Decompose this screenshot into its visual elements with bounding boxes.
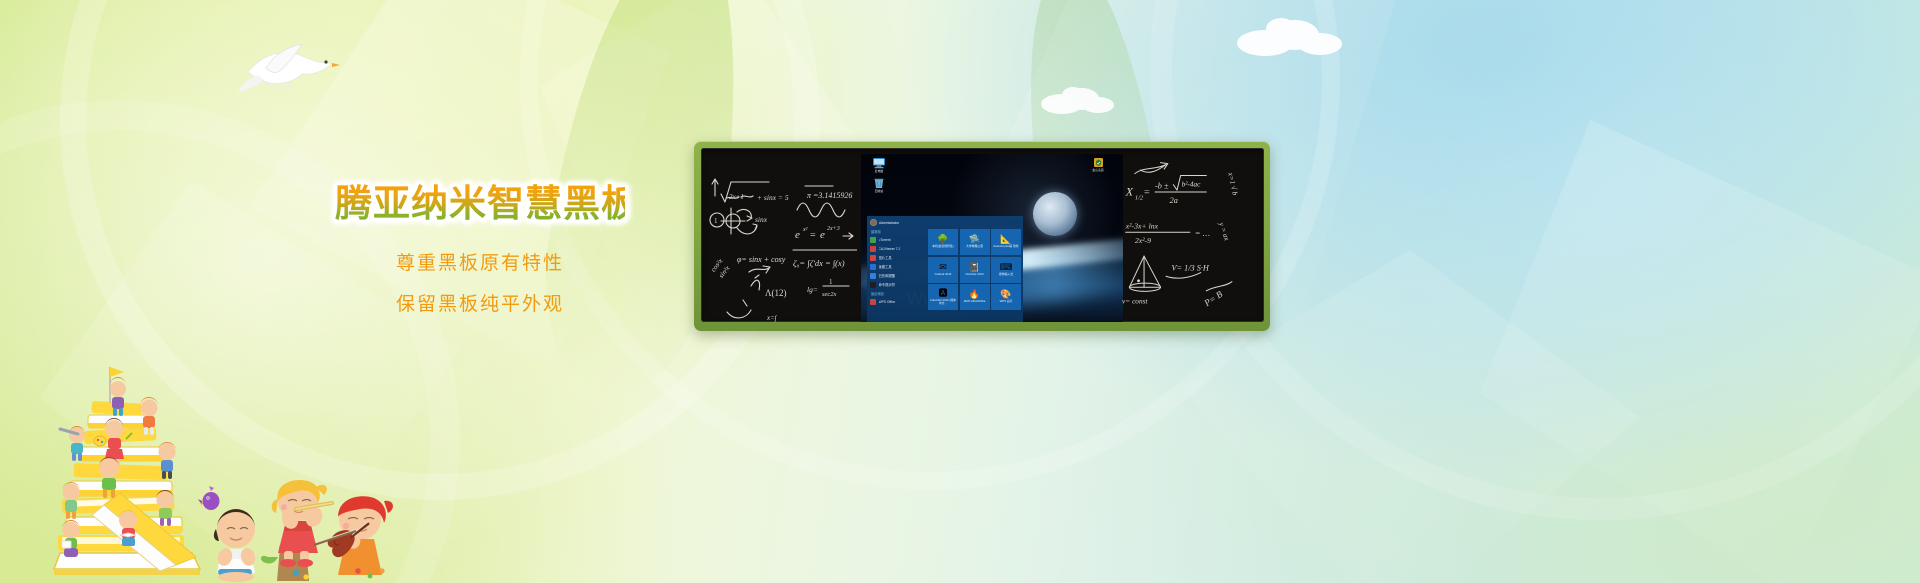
tile-icon: 🛸 bbox=[969, 235, 980, 244]
decor-ball bbox=[303, 574, 308, 579]
dove-bird-icon bbox=[236, 32, 346, 102]
tile-label: Autocad plus版 软件 bbox=[992, 245, 1019, 248]
start-menu-user[interactable]: Administrator bbox=[870, 219, 925, 226]
svg-text:2x+3: 2x+3 bbox=[827, 226, 840, 232]
start-menu-tiles[interactable]: 🌳 本机(最智能特性) 🛸 大学物理公课 📐 Autocad plus版 软件 bbox=[927, 216, 1023, 322]
app-icon bbox=[870, 273, 876, 279]
avatar bbox=[870, 219, 877, 226]
svg-text:Λ(12): Λ(12) bbox=[765, 288, 787, 298]
app-label: CAJViewer 7.2 bbox=[879, 247, 901, 251]
svg-text:2x²-9: 2x²-9 bbox=[1135, 236, 1151, 245]
promo-banner: 腾亚纳米智慧黑板 尊重黑板原有特性 保留黑板纯平外观 2x+1 + sinx =… bbox=[0, 0, 1920, 583]
start-menu-item[interactable]: 日历和提醒 bbox=[870, 271, 925, 280]
app-label: 画图工具 bbox=[879, 264, 892, 269]
smart-blackboard-device: 2x+1 + sinx = 5 π =3.1415926 1 sinx e x² bbox=[694, 141, 1270, 331]
svg-text:v= const: v= const bbox=[1122, 297, 1148, 306]
app-label: 日历和提醒 bbox=[879, 273, 895, 278]
svg-text:π =3.1415926: π =3.1415926 bbox=[807, 191, 852, 200]
decor-ball bbox=[293, 570, 299, 576]
start-menu-item[interactable]: 画图工具 bbox=[870, 262, 925, 271]
tile-label: 大学物理公课 bbox=[965, 245, 984, 248]
antivirus-icon bbox=[1093, 157, 1104, 168]
tile-icon: 🔥 bbox=[969, 290, 980, 299]
start-tile[interactable]: 📐 Autocad plus版 软件 bbox=[991, 229, 1021, 255]
page-title: 腾亚纳米智慧黑板 bbox=[335, 182, 625, 226]
tile-label: AutoCAD 2016 (简体中文… bbox=[928, 299, 958, 305]
svg-text:x²: x² bbox=[802, 227, 808, 233]
svg-text:=: = bbox=[1144, 188, 1150, 199]
start-menu-item[interactable]: WPS Office bbox=[870, 297, 925, 306]
start-menu-app-list[interactable]: Administrator 最常用 uTorrent CAJViewer 7.2 bbox=[867, 216, 927, 322]
app-icon bbox=[870, 282, 876, 288]
svg-text:e: e bbox=[795, 229, 800, 241]
svg-text:2x+1: 2x+1 bbox=[729, 193, 744, 201]
boy-violin-player bbox=[314, 496, 393, 575]
tile-icon: ✉ bbox=[939, 263, 947, 272]
recycle-bin-icon bbox=[873, 177, 885, 189]
svg-text:b²-4ac: b²-4ac bbox=[1182, 179, 1202, 188]
decor-ball bbox=[368, 574, 373, 579]
kids-musicians-illustration bbox=[180, 463, 410, 583]
purple-bird-icon bbox=[198, 486, 220, 510]
app-label: WPS Office bbox=[879, 300, 896, 304]
app-label: 图片工具 bbox=[879, 255, 892, 260]
desktop-icon-label: 此电脑 bbox=[866, 170, 893, 173]
desktop-icon-computer[interactable]: 此电脑 bbox=[864, 157, 894, 174]
svg-text:-b ±: -b ± bbox=[1155, 181, 1169, 190]
boy-sitting bbox=[214, 509, 258, 582]
section-label-recently-added: 最近添加 bbox=[871, 291, 925, 296]
start-menu-item[interactable]: CAJViewer 7.2 bbox=[870, 244, 925, 253]
svg-text:P= B: P= B bbox=[1202, 289, 1225, 309]
cloud-small-icon bbox=[1040, 82, 1116, 116]
subtitle-line-2: 保留黑板纯平外观 bbox=[335, 295, 625, 314]
svg-text:x²-3x+ lnx: x²-3x+ lnx bbox=[1125, 222, 1159, 231]
chalk-formulas-right: X 1/2 = -b ± b²-4ac 2a x=1 √ b x²-3x+ ln… bbox=[1112, 148, 1264, 322]
svg-text:sec2x: sec2x bbox=[822, 291, 837, 298]
tile-label: MATLAB R2016a bbox=[963, 300, 987, 303]
svg-text:2a: 2a bbox=[1170, 196, 1178, 205]
desktop-icon-antivirus[interactable]: 金山毒霸 bbox=[1083, 157, 1113, 173]
start-tile[interactable]: ⌨ 搜狗输入法 bbox=[991, 257, 1021, 283]
start-tile[interactable]: 🅰 AutoCAD 2016 (简体中文… bbox=[928, 284, 958, 310]
svg-text:y = ax: y = ax bbox=[1217, 220, 1232, 242]
computer-icon bbox=[872, 157, 886, 169]
app-label: uTorrent bbox=[879, 238, 891, 242]
tile-icon: ⌨ bbox=[1000, 263, 1013, 272]
start-tile[interactable]: 🔥 MATLAB R2016a bbox=[960, 284, 990, 310]
svg-text:x=1 √ b: x=1 √ b bbox=[1226, 171, 1240, 197]
svg-text:φ= sinx + cosy: φ= sinx + cosy bbox=[737, 255, 786, 264]
tile-icon: 📐 bbox=[1000, 235, 1011, 244]
cloud-large-icon bbox=[1235, 12, 1345, 58]
tile-label: 搜狗输入法 bbox=[998, 273, 1014, 276]
start-tile[interactable]: ✉ Outlook 2013 bbox=[928, 257, 958, 283]
app-label: 命令提示符 bbox=[879, 282, 895, 287]
svg-text:ζ₀= ∫ζ'dx = ∫(x): ζ₀= ∫ζ'dx = ∫(x) bbox=[793, 258, 845, 269]
moon-graphic bbox=[1033, 192, 1077, 236]
tile-icon: 📓 bbox=[969, 263, 980, 272]
desktop-icon-label: 金山毒霸 bbox=[1085, 169, 1112, 172]
subtitle-line-1: 尊重黑板原有特性 bbox=[335, 254, 625, 273]
tile-label: 本机(最智能特性) bbox=[931, 245, 954, 248]
svg-text:= …: = … bbox=[1195, 229, 1210, 238]
svg-text:=: = bbox=[810, 230, 816, 241]
tile-icon: 🌳 bbox=[937, 235, 948, 244]
svg-text:e: e bbox=[820, 229, 825, 241]
tile-icon: 🎨 bbox=[1000, 290, 1011, 299]
app-icon bbox=[870, 299, 876, 305]
start-menu-item[interactable]: uTorrent bbox=[870, 235, 925, 244]
desktop-icon-label: 回收站 bbox=[866, 190, 893, 193]
user-name: Administrator bbox=[879, 221, 899, 225]
start-menu-item[interactable]: 命令提示符 bbox=[870, 280, 925, 289]
tile-icon: 🅰 bbox=[938, 289, 947, 298]
start-menu[interactable]: Administrator 最常用 uTorrent CAJViewer 7.2 bbox=[867, 216, 1023, 322]
banner-text-block: 腾亚纳米智慧黑板 尊重黑板原有特性 保留黑板纯平外观 bbox=[335, 182, 625, 314]
start-tile[interactable]: 📓 OneNote 2013 bbox=[960, 257, 990, 283]
svg-text:sinx: sinx bbox=[755, 215, 768, 224]
tile-label: OneNote 2013 bbox=[964, 273, 984, 276]
desktop-icon-recycle-bin[interactable]: 回收站 bbox=[864, 177, 894, 194]
chalk-formulas-left: 2x+1 + sinx = 5 π =3.1415926 1 sinx e x² bbox=[707, 172, 857, 322]
app-icon bbox=[870, 246, 876, 252]
tile-label: WPS 演示 bbox=[999, 300, 1014, 303]
decor-ball bbox=[355, 568, 361, 574]
svg-text:+ sinx = 5: + sinx = 5 bbox=[757, 193, 789, 202]
svg-text:lg=: lg= bbox=[807, 285, 818, 294]
windows-desktop-screen[interactable]: Windows 10 此电脑 bbox=[861, 154, 1123, 322]
blackboard-surface: 2x+1 + sinx = 5 π =3.1415926 1 sinx e x² bbox=[701, 148, 1264, 322]
svg-text:1/2: 1/2 bbox=[1135, 194, 1144, 201]
svg-text:1: 1 bbox=[714, 217, 718, 225]
svg-text:X: X bbox=[1125, 185, 1134, 199]
start-tile[interactable]: 🌳 本机(最智能特性) bbox=[928, 229, 958, 255]
svg-text:1: 1 bbox=[829, 278, 833, 286]
tile-label: Outlook 2013 bbox=[934, 273, 953, 276]
app-icon bbox=[870, 237, 876, 243]
start-tile[interactable]: 🎨 WPS 演示 bbox=[991, 284, 1021, 310]
start-tile[interactable]: 🛸 大学物理公课 bbox=[960, 229, 990, 255]
svg-text:x=∫: x=∫ bbox=[766, 314, 778, 322]
app-icon bbox=[870, 255, 876, 261]
app-icon bbox=[870, 264, 876, 270]
start-menu-item[interactable]: 图片工具 bbox=[870, 253, 925, 262]
section-label-most-used: 最常用 bbox=[871, 229, 925, 234]
svg-text:V= 1/3 S·H: V= 1/3 S·H bbox=[1172, 264, 1210, 273]
decor-ball bbox=[379, 568, 384, 573]
